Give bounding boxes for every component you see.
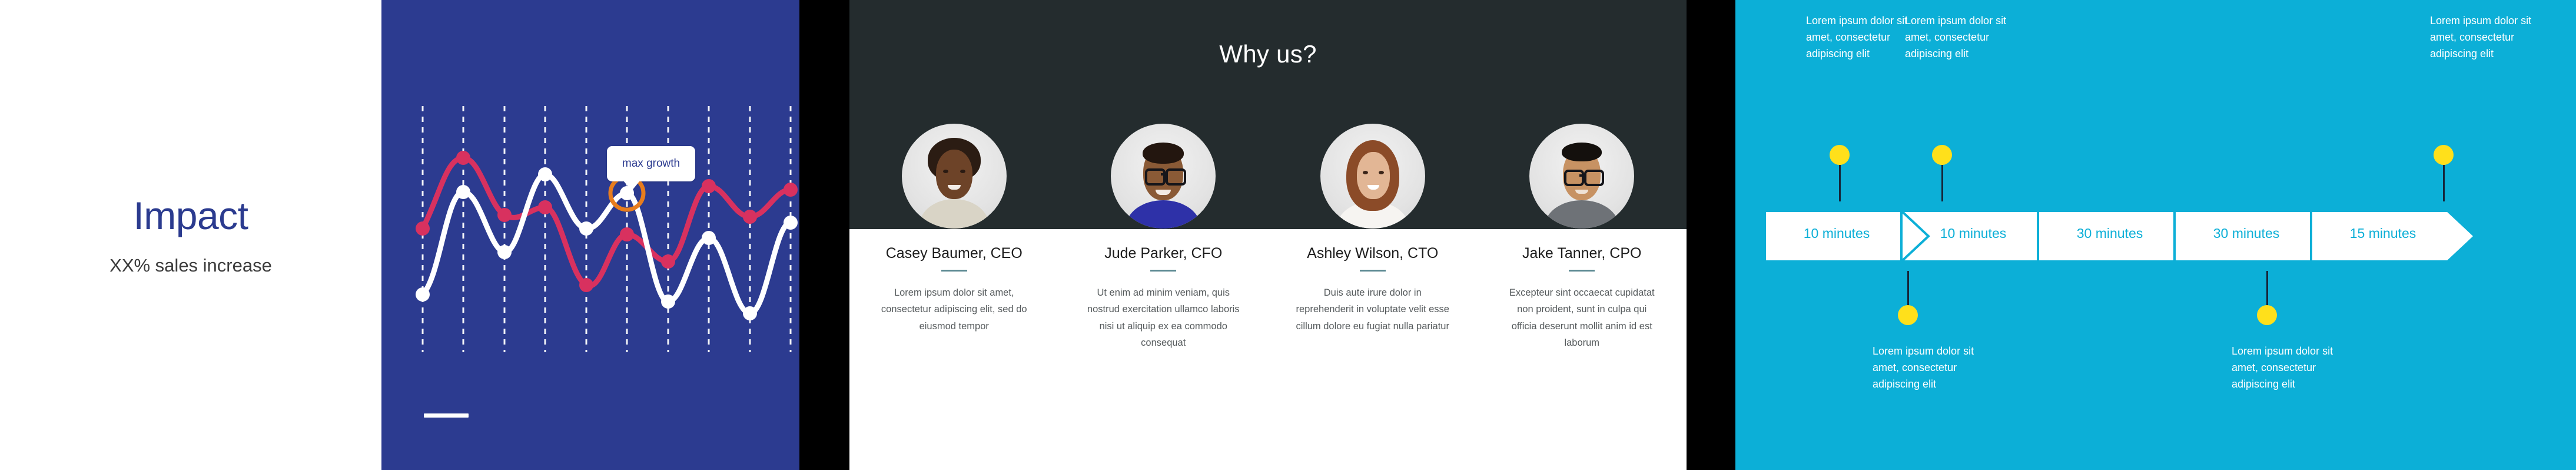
team-member-divider xyxy=(1569,270,1595,272)
timeline-panel: Lorem ipsum dolor sit amet, consectetur … xyxy=(1735,0,2576,470)
team-member-divider xyxy=(941,270,967,272)
team-member-description: Lorem ipsum dolor sit amet, consectetur … xyxy=(877,284,1031,335)
impact-subtitle: XX% sales increase xyxy=(109,256,272,274)
team-member-card[interactable]: Jude Parker, CFO Ut enim ad minim veniam… xyxy=(1059,124,1269,352)
why-us-title: Why us? xyxy=(849,40,1687,68)
timeline-marker-stem xyxy=(2443,165,2445,201)
slide-deck-canvas: Impact XX% sales increase xyxy=(0,0,2576,470)
chart-panel: max growth xyxy=(381,0,799,470)
why-us-panel: Why us? Casey Baumer, CEO Lorem ipsum do… xyxy=(849,0,1687,470)
avatar-casey-baumer xyxy=(902,124,1007,229)
avatar-ashley-wilson xyxy=(1320,124,1425,229)
max-growth-tooltip[interactable]: max growth xyxy=(607,146,695,181)
impact-title: Impact xyxy=(133,196,248,235)
timeline-note-below: Lorem ipsum dolor sit amet, consectetur … xyxy=(1873,343,1999,393)
team-member-name: Ashley Wilson, CTO xyxy=(1307,245,1438,262)
team-row: Casey Baumer, CEO Lorem ipsum dolor sit … xyxy=(849,124,1687,352)
timeline-marker-dot xyxy=(1898,305,1918,325)
chart-accent-underline xyxy=(424,413,469,418)
timeline-marker-dot xyxy=(1830,145,1850,165)
timeline-note-below: Lorem ipsum dolor sit amet, consectetur … xyxy=(2232,343,2358,393)
timeline-marker-stem xyxy=(2266,271,2268,307)
team-member-card[interactable]: Casey Baumer, CEO Lorem ipsum dolor sit … xyxy=(849,124,1059,352)
timeline-marker-stem xyxy=(1839,165,1841,201)
timeline-marker-stem xyxy=(1907,271,1909,307)
timeline-marker-dot xyxy=(2257,305,2277,325)
max-growth-tooltip-label: max growth xyxy=(622,157,680,170)
timeline-marker-dot xyxy=(1932,145,1952,165)
team-member-name: Jude Parker, CFO xyxy=(1104,245,1222,262)
chevron-step-label[interactable]: 10 minutes xyxy=(1772,226,1901,241)
timeline-note-above: Lorem ipsum dolor sit amet, consectetur … xyxy=(2430,13,2557,62)
series-white-line xyxy=(423,174,791,313)
timeline-note-above: Lorem ipsum dolor sit amet, consectetur … xyxy=(1905,13,2031,62)
chevron-step-label[interactable]: 10 minutes xyxy=(1908,226,2038,241)
team-member-divider xyxy=(1150,270,1176,272)
team-member-description: Duis aute irure dolor in reprehenderit i… xyxy=(1296,284,1450,335)
team-member-description: Excepteur sint occaecat cupidatat non pr… xyxy=(1505,284,1659,352)
impact-panel: Impact XX% sales increase xyxy=(0,0,381,470)
team-member-description: Ut enim ad minim veniam, quis nostrud ex… xyxy=(1086,284,1240,352)
team-member-name: Jake Tanner, CPO xyxy=(1522,245,1641,262)
avatar-jude-parker xyxy=(1111,124,1216,229)
team-member-divider xyxy=(1360,270,1386,272)
team-member-card[interactable]: Jake Tanner, CPO Excepteur sint occaecat… xyxy=(1478,124,1687,352)
chevron-step-label[interactable]: 30 minutes xyxy=(2045,226,2175,241)
series-white-points xyxy=(416,167,798,320)
chart-gridlines xyxy=(423,106,791,352)
chevron-step-label[interactable]: 30 minutes xyxy=(2182,226,2311,241)
impact-text-block: Impact XX% sales increase xyxy=(0,0,381,470)
avatar-jake-tanner xyxy=(1529,124,1634,229)
chevron-step-label[interactable]: 15 minutes xyxy=(2318,226,2448,241)
timeline-marker-stem xyxy=(1941,165,1943,201)
team-member-name: Casey Baumer, CEO xyxy=(886,245,1023,262)
line-chart xyxy=(381,0,799,470)
timeline-marker-dot xyxy=(2434,145,2454,165)
team-member-card[interactable]: Ashley Wilson, CTO Duis aute irure dolor… xyxy=(1268,124,1478,352)
